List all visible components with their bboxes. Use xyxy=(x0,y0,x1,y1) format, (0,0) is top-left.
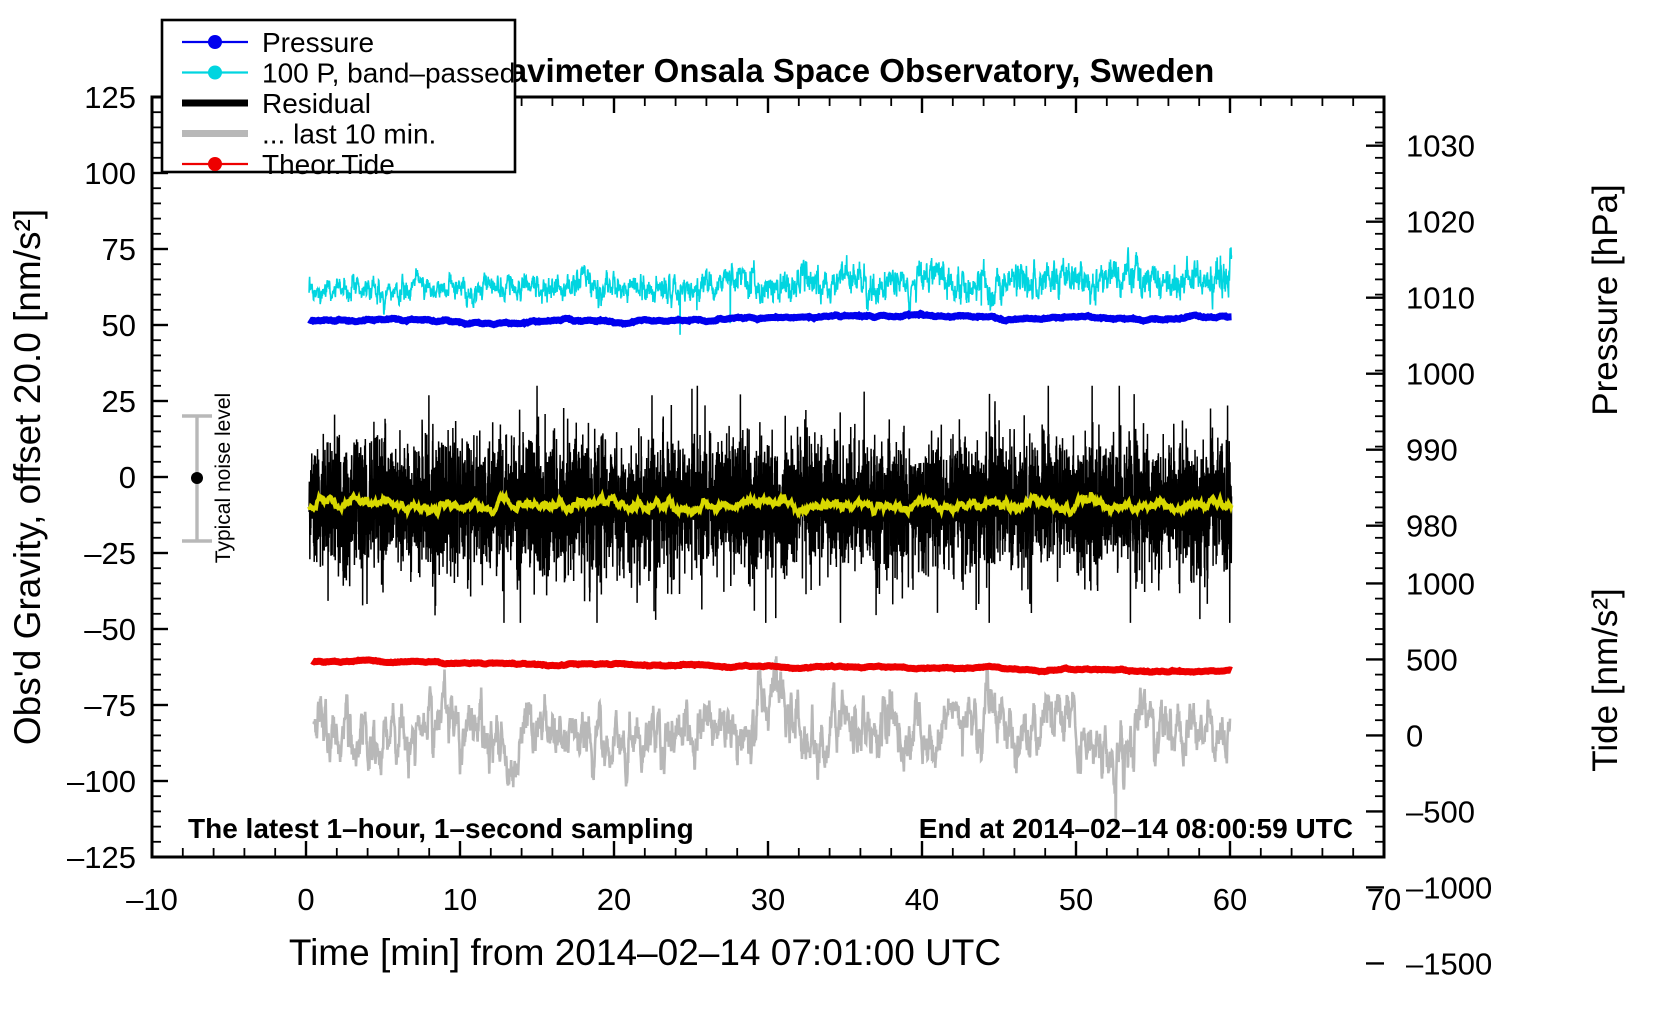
y-tick-label: 125 xyxy=(84,80,136,115)
x-axis-tick-labels: –10010203040506070 xyxy=(126,882,1401,917)
y-axis-ticks xyxy=(152,97,168,857)
trace-pressure xyxy=(309,313,1231,324)
noise-center-dot xyxy=(191,472,203,484)
y-tick-label: –50 xyxy=(84,612,136,647)
x-tick-label: 70 xyxy=(1367,882,1401,917)
y-axis-title: Obs'd Gravity, offset 20.0 [nm/s²] xyxy=(7,209,48,745)
typical-noise-level-indicator: Typical noise level xyxy=(182,393,235,563)
legend-label: Residual xyxy=(262,88,371,119)
x-tick-label: 10 xyxy=(443,882,477,917)
end-time-note: End at 2014–02–14 08:00:59 UTC xyxy=(919,813,1353,844)
x-tick-label: 40 xyxy=(905,882,939,917)
legend-marker xyxy=(208,35,222,49)
legend: Pressure100 P, band–passedResidual... la… xyxy=(162,20,515,180)
pressure-axis-tick-labels: 1030102010101000990980 xyxy=(1406,129,1475,544)
x-tick-label: –10 xyxy=(126,882,178,917)
legend-marker xyxy=(208,157,222,171)
tide-tick-label: 500 xyxy=(1406,642,1458,677)
tide-tick-label: –1000 xyxy=(1406,870,1492,905)
trace-last-10-min xyxy=(314,656,1230,826)
x-tick-label: 0 xyxy=(297,882,314,917)
pressure-tick-label: 1010 xyxy=(1406,281,1475,316)
x-axis-title: Time [min] from 2014–02–14 07:01:00 UTC xyxy=(289,932,1001,973)
legend-label: ... last 10 min. xyxy=(262,119,436,150)
y-tick-label: –100 xyxy=(67,764,136,799)
pressure-tick-label: 1000 xyxy=(1406,357,1475,392)
y-tick-label: –125 xyxy=(67,840,136,875)
x-tick-label: 20 xyxy=(597,882,631,917)
legend-marker xyxy=(208,66,222,80)
pressure-tick-label: 990 xyxy=(1406,433,1458,468)
x-tick-label: 60 xyxy=(1213,882,1247,917)
y-tick-label: 75 xyxy=(102,232,136,267)
y-tick-label: 0 xyxy=(119,460,136,495)
tide-tick-label: 0 xyxy=(1406,718,1423,753)
data-traces xyxy=(309,247,1231,826)
noise-level-label: Typical noise level xyxy=(212,393,235,563)
chart-page: –10010203040506070 1251007550250–25–50–7… xyxy=(0,0,1660,1020)
pressure-tick-label: 1020 xyxy=(1406,205,1475,240)
legend-label: 100 P, band–passed xyxy=(262,58,515,89)
sampling-note: The latest 1–hour, 1–second sampling xyxy=(188,813,694,844)
tide-axis-tick-labels: 10005000–500–1000–1500 xyxy=(1406,566,1492,981)
y-tick-label: 100 xyxy=(84,156,136,191)
y-tick-label: 50 xyxy=(102,308,136,343)
tide-axis-title: Tide [nm/s²] xyxy=(1586,588,1625,771)
gravimeter-chart: –10010203040506070 1251007550250–25–50–7… xyxy=(0,0,1660,1020)
y-tick-label: –25 xyxy=(84,536,136,571)
tide-tick-label: –500 xyxy=(1406,794,1475,829)
y-tick-label: –75 xyxy=(84,688,136,723)
y-axis-tick-labels: 1251007550250–25–50–75–100–125 xyxy=(67,80,136,875)
trace-theoretical-tide xyxy=(312,660,1231,672)
x-tick-label: 30 xyxy=(751,882,785,917)
pressure-tick-label: 1030 xyxy=(1406,129,1475,164)
tide-tick-label: –1500 xyxy=(1406,946,1492,981)
tide-tick-label: 1000 xyxy=(1406,566,1475,601)
legend-label: Pressure xyxy=(262,27,374,58)
legend-label: Theor.Tide xyxy=(262,149,395,180)
pressure-axis-title: Pressure [hPa] xyxy=(1586,184,1625,416)
x-tick-label: 50 xyxy=(1059,882,1093,917)
y-tick-label: 25 xyxy=(102,384,136,419)
right-axis-ticks xyxy=(1366,97,1384,963)
pressure-tick-label: 980 xyxy=(1406,509,1458,544)
